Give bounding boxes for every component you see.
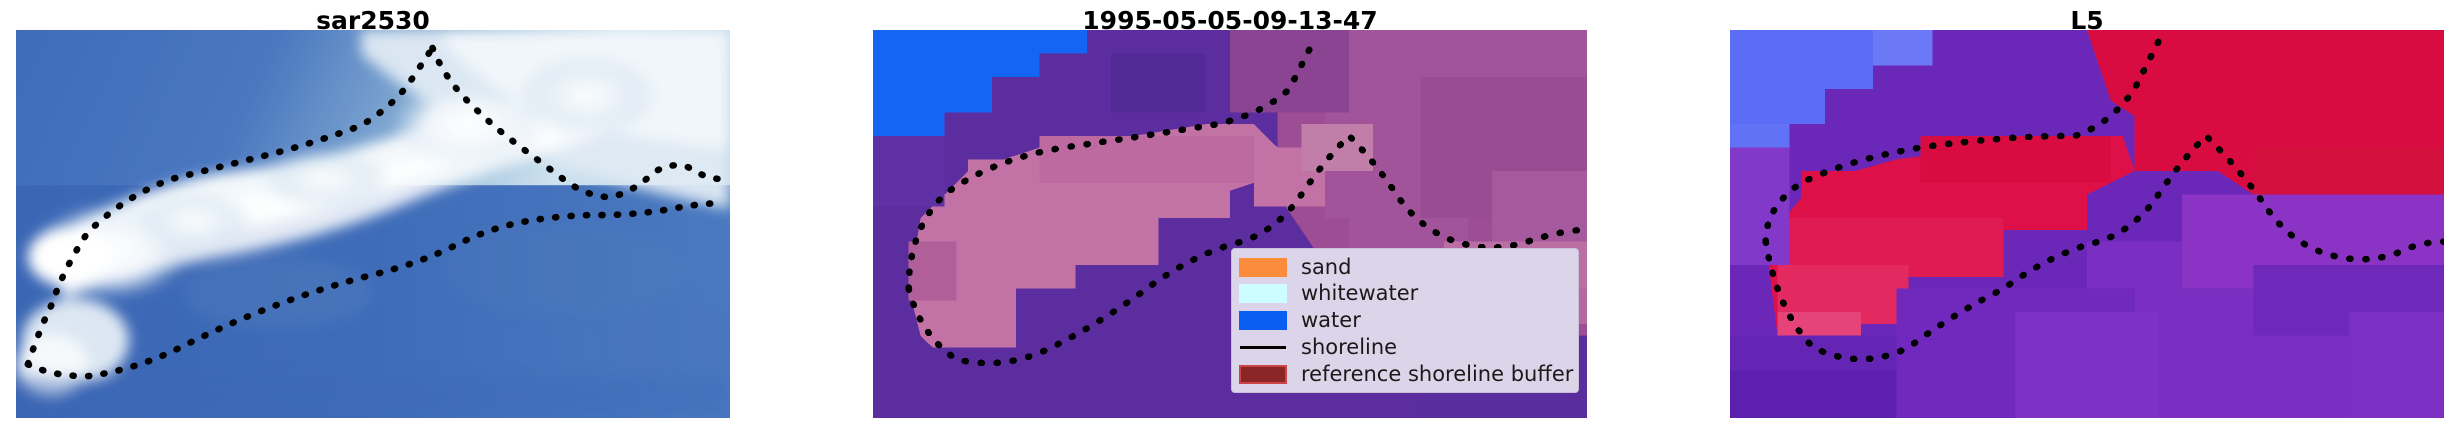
sar2530-raster [16, 30, 730, 418]
image-classified[interactable]: sand whitewater water shoreline referenc… [873, 30, 1587, 418]
panel-l5: L5 [1730, 0, 2444, 437]
legend-item-whitewater: whitewater [1239, 281, 1569, 307]
legend-swatch-shoreline [1239, 338, 1287, 357]
legend-item-reference-shoreline-buffer: reference shoreline buffer [1239, 361, 1569, 387]
figure-canvas: sar2530 [0, 0, 2460, 437]
legend-label-water: water [1301, 310, 1361, 331]
legend-swatch-sand [1239, 258, 1287, 277]
legend-item-sand: sand [1239, 254, 1569, 280]
legend-label-sand: sand [1301, 257, 1351, 278]
legend-label-reference-shoreline-buffer: reference shoreline buffer [1301, 364, 1573, 385]
legend: sand whitewater water shoreline referenc… [1231, 248, 1579, 393]
legend-swatch-whitewater [1239, 284, 1287, 303]
image-l5[interactable] [1730, 30, 2444, 418]
legend-swatch-water [1239, 311, 1287, 330]
panel-classified: 1995-05-05-09-13-47 [873, 0, 1587, 437]
legend-item-water: water [1239, 308, 1569, 334]
legend-swatch-reference-shoreline-buffer [1239, 365, 1287, 384]
legend-label-whitewater: whitewater [1301, 283, 1418, 304]
legend-item-shoreline: shoreline [1239, 334, 1569, 360]
image-sar2530[interactable] [16, 30, 730, 418]
panel-sar2530: sar2530 [16, 0, 730, 437]
legend-label-shoreline: shoreline [1301, 337, 1397, 358]
l5-raster [1730, 30, 2444, 418]
